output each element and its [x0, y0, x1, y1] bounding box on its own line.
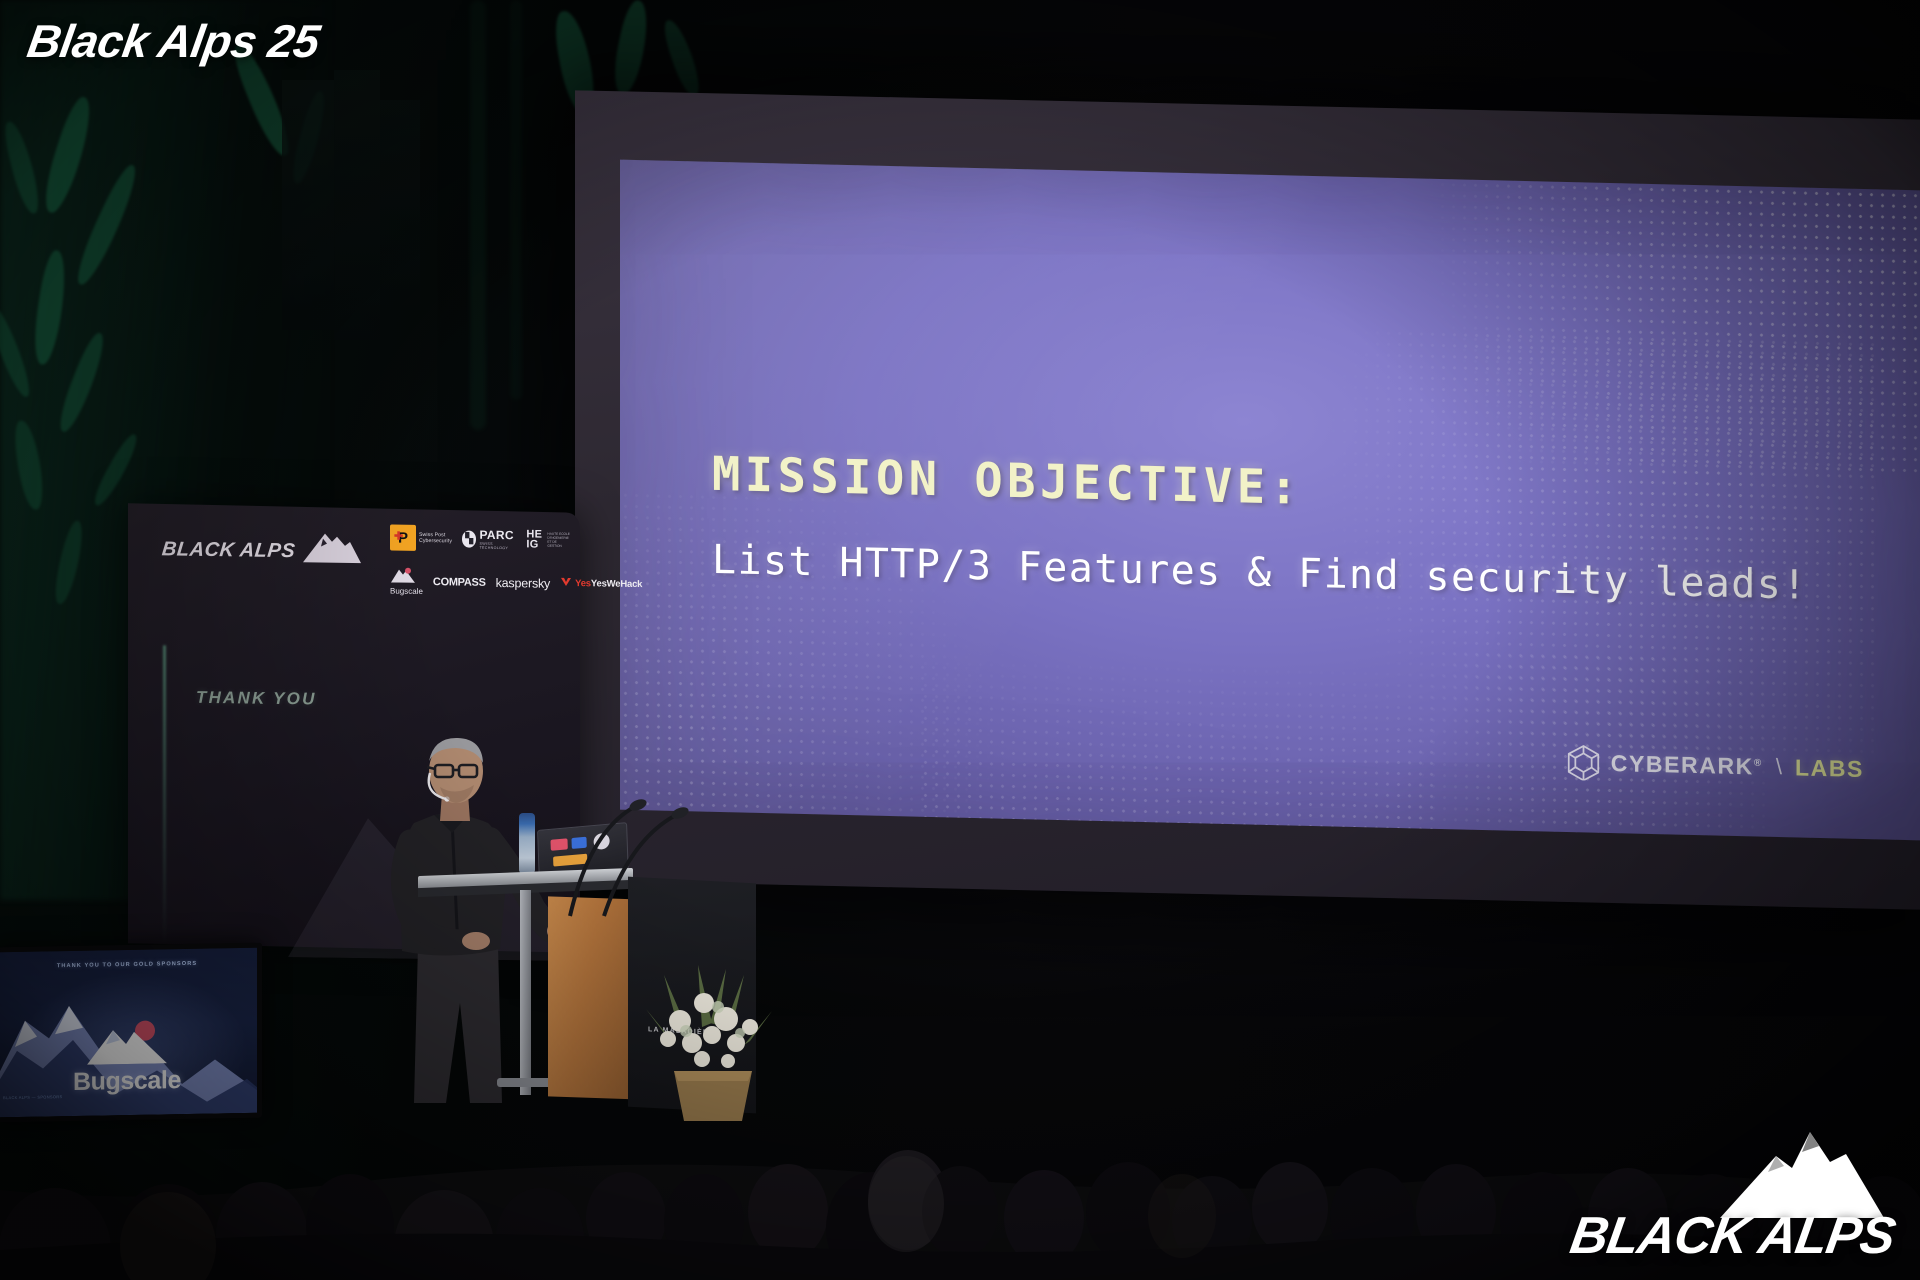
water-bottle [519, 813, 535, 873]
registered-mark: ® [1754, 757, 1763, 768]
slide-title: MISSION OBJECTIVE: [712, 447, 1302, 516]
cyberark-labs-logo: CYBERARK® \ LABS [1567, 744, 1864, 787]
yeswehack-icon [560, 574, 572, 592]
sponsor-kaspersky-label: kaspersky [496, 575, 550, 590]
audience-head-light [1148, 1174, 1216, 1258]
watermark-bottom-right: BLACK ALPS [1571, 1126, 1894, 1262]
sponsor-parc-label: PARC SWISS TECHNOLOGY [479, 528, 516, 551]
slide-content: MISSION OBJECTIVE: List HTTP/3 Features … [620, 160, 1920, 841]
sponsor-bugscale-label: Bugscale [390, 567, 423, 596]
banner-brand-label: BLACK ALPS [161, 538, 297, 563]
swiss-cross-icon: ✚ [394, 533, 402, 541]
parc-circle-icon: ▚ [462, 530, 476, 547]
sponsor-row-2: Bugscale COMPASS kaspersky YesYesWeHack [390, 567, 570, 599]
matterhorn-mountain-icon [1718, 1126, 1894, 1210]
conference-photo-stage: MISSION OBJECTIVE: List HTTP/3 Features … [0, 0, 1920, 1280]
sponsor-compass: COMPASS [433, 576, 486, 589]
banner-thank-you-text: THANK YOU [196, 688, 317, 710]
watermark-bottom-label: BLACK ALPS [1567, 1210, 1898, 1262]
mountain-icon [301, 529, 363, 564]
sponsor-heig-label: HAUTE ECOLE D'INGENIERIE ET DE GESTION [547, 532, 570, 548]
sponsor-yeswehack-label: YesYesWeHack [575, 578, 642, 590]
cyberark-cube-icon [1567, 744, 1600, 781]
labs-wordmark: LABS [1795, 754, 1864, 783]
microphone-booms [560, 790, 750, 920]
presentation-slide: MISSION OBJECTIVE: List HTTP/3 Features … [620, 160, 1920, 841]
sponsor-parc: ▚ PARC SWISS TECHNOLOGY [462, 528, 516, 551]
sponsor-logo-grid: ✚P Swiss PostCybersecurity ▚ PARC SWISS … [390, 525, 570, 615]
sponsor-bugscale: Bugscale [390, 567, 423, 596]
slide-subtitle: List HTTP/3 Features & Find security lea… [712, 537, 1808, 609]
sponsor-compass-label: COMPASS [433, 576, 486, 589]
sponsor-swiss-post: ✚P Swiss PostCybersecurity [390, 525, 452, 552]
logo-separator: \ [1774, 754, 1784, 780]
sponsor-row-1: ✚P Swiss PostCybersecurity ▚ PARC SWISS … [390, 525, 570, 554]
banner-black-alps-logo: BLACK ALPS [162, 527, 363, 564]
sponsor-kaspersky: kaspersky [496, 575, 550, 590]
cyberark-wordmark: CYBERARK® [1611, 750, 1763, 781]
banner-edge-light [163, 645, 166, 945]
watermark-top-left: Black Alps 25 [24, 14, 324, 68]
swiss-post-badge-icon: ✚P [390, 525, 416, 551]
audience-head-hooded [868, 1156, 944, 1252]
sponsor-heig: HEIG HAUTE ECOLE D'INGENIERIE ET DE GEST… [526, 529, 570, 550]
sponsor-swiss-post-label: Swiss PostCybersecurity [419, 531, 452, 544]
heig-icon: HEIG [526, 529, 542, 549]
bugscale-mountain-icon [390, 567, 416, 583]
sponsor-yeswehack: YesYesWeHack [560, 574, 642, 593]
